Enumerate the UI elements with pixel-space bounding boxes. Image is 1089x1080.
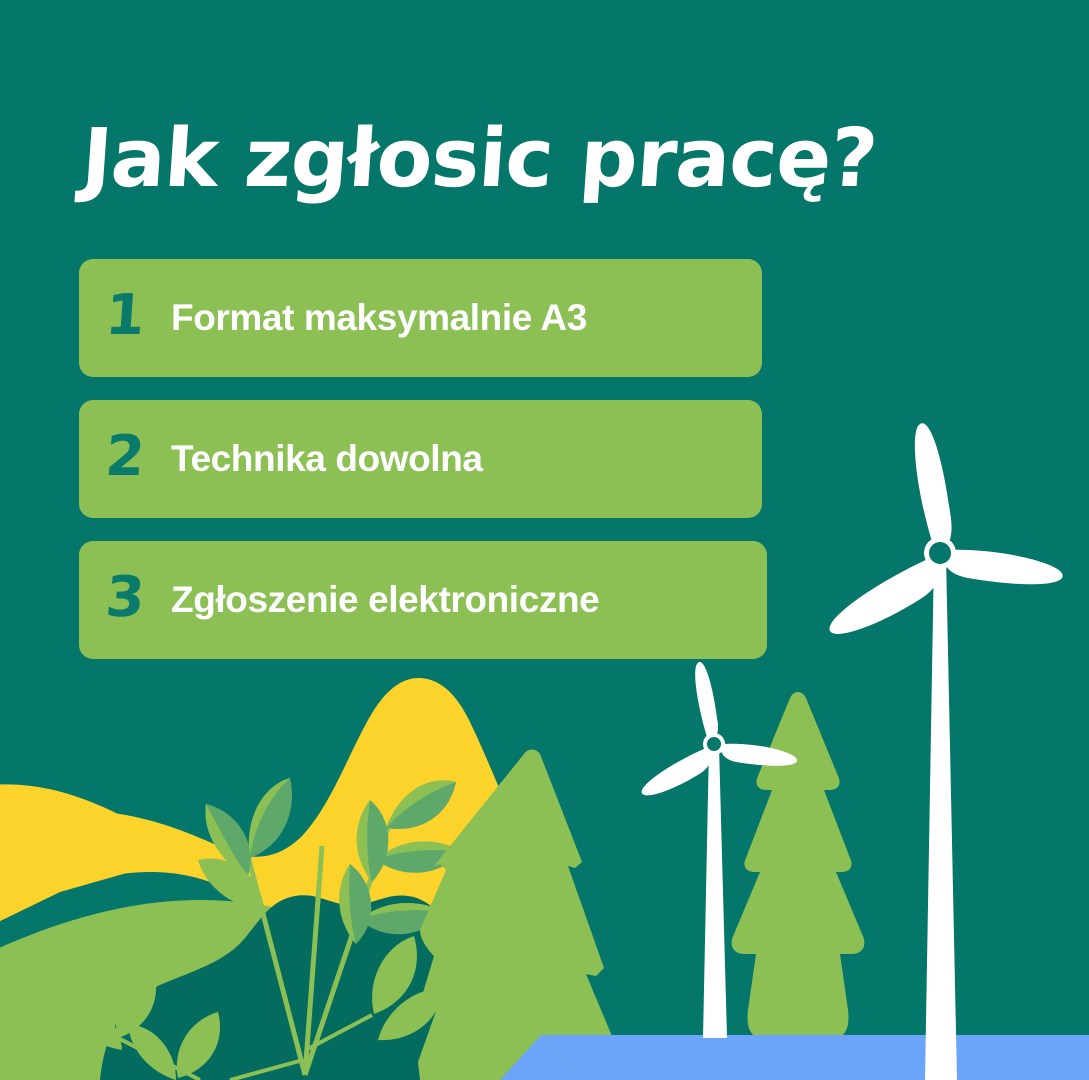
step-number-3: 3 <box>77 570 173 630</box>
poster-canvas: Jak zgłosic pracę? 1 Format maksymalnie … <box>0 0 1089 1080</box>
step-label-1: Format maksymalnie A3 <box>171 297 587 339</box>
step-card-2[interactable]: 2 Technika dowolna <box>79 400 762 518</box>
content-layer: Jak zgłosic pracę? 1 Format maksymalnie … <box>0 0 1089 1080</box>
step-number-1: 1 <box>77 288 173 348</box>
page-title: Jak zgłosic pracę? <box>79 112 880 206</box>
step-number-2: 2 <box>77 429 173 489</box>
step-label-2: Technika dowolna <box>171 438 483 480</box>
step-card-3[interactable]: 3 Zgłoszenie elektroniczne <box>79 541 767 659</box>
step-card-1[interactable]: 1 Format maksymalnie A3 <box>79 259 762 377</box>
step-label-3: Zgłoszenie elektroniczne <box>171 579 599 621</box>
